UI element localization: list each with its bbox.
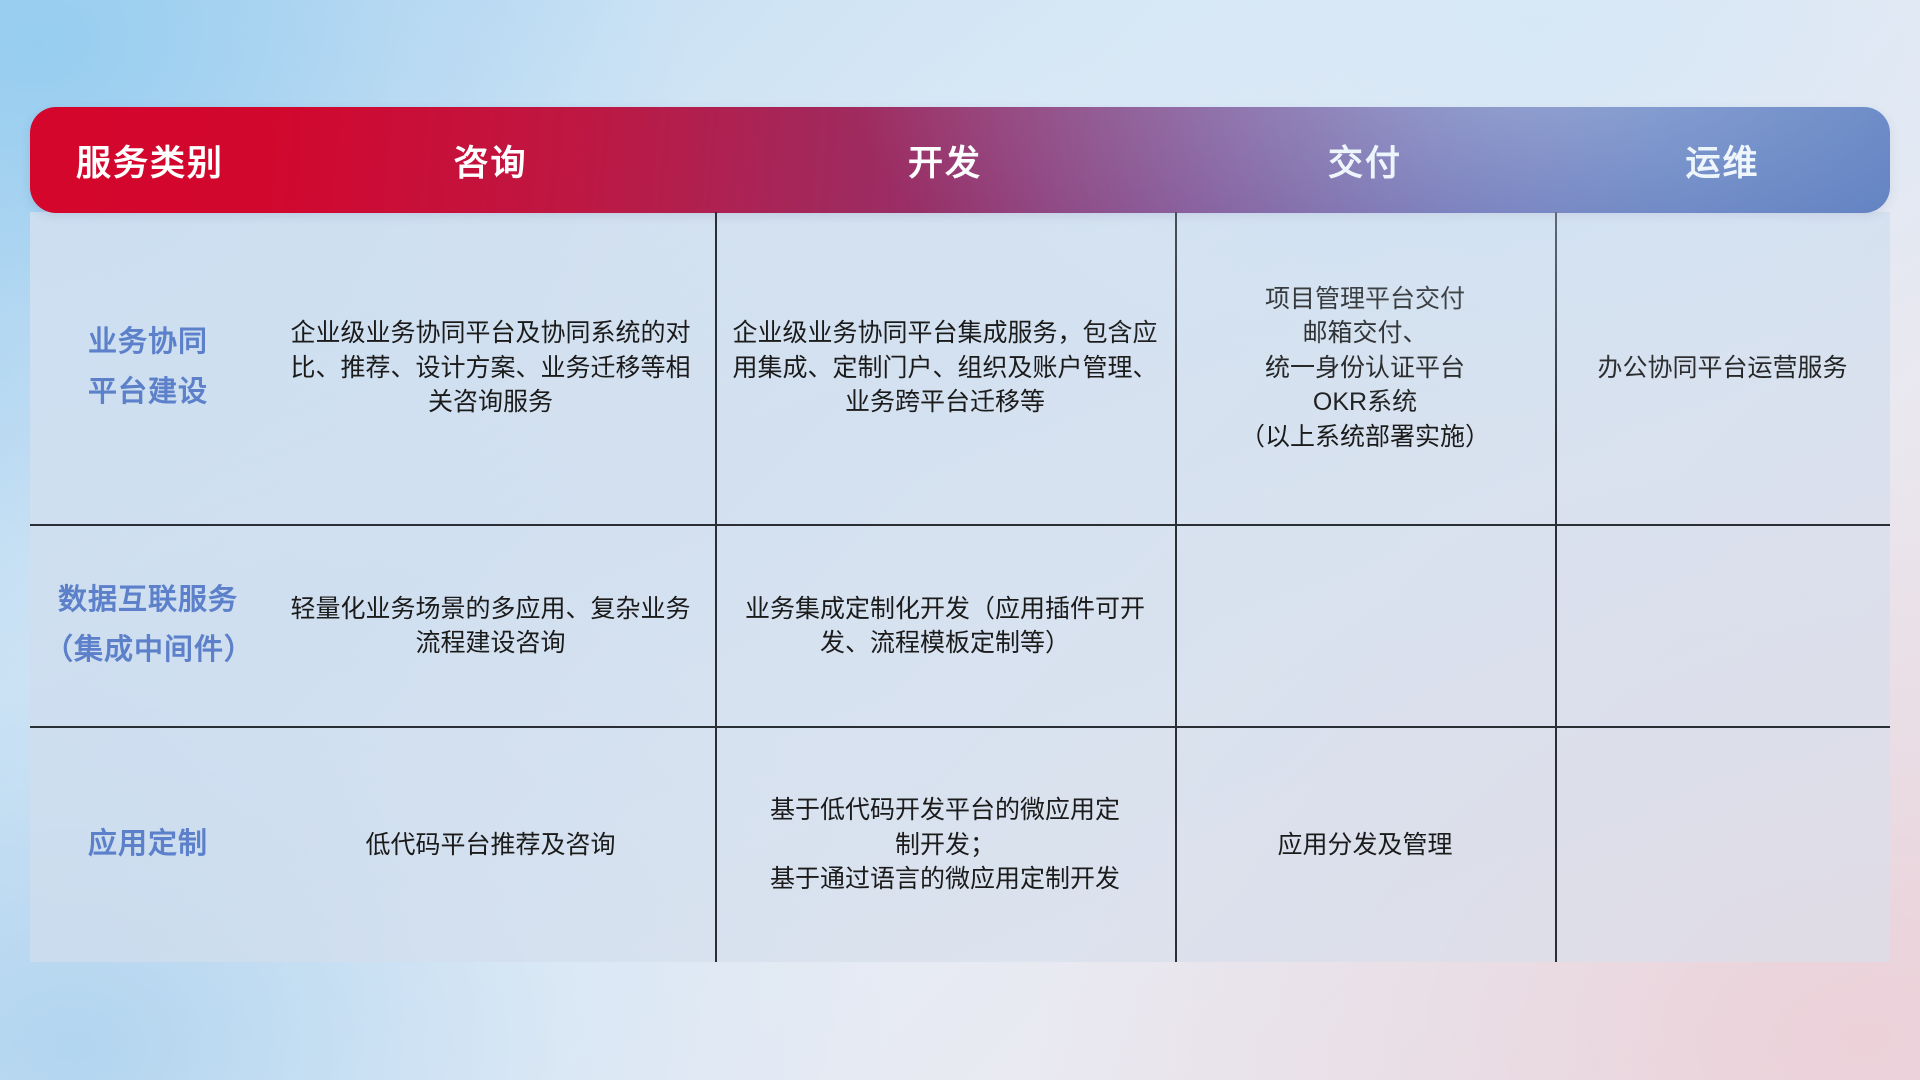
cell-development: 基于低代码开发平台的微应用定 制开发； 基于通过语言的微应用定制开发 <box>715 728 1175 962</box>
row-category-label: 业务协同 平台建设 <box>30 212 266 524</box>
cell-text-line: 基于通过语言的微应用定制开发 <box>729 862 1161 897</box>
table-row: 业务协同 平台建设 企业级业务协同平台及协同系统的对比、推荐、设计方案、业务迁移… <box>30 212 1890 526</box>
table-rows: 业务协同 平台建设 企业级业务协同平台及协同系统的对比、推荐、设计方案、业务迁移… <box>30 212 1890 962</box>
cell-text: 办公协同平台运营服务 <box>1569 351 1876 386</box>
column-header-development: 开发 <box>715 135 1175 186</box>
table-header-row: 服务类别 咨询 开发 交付 运维 <box>30 107 1890 213</box>
column-header-service-category: 服务类别 <box>30 135 266 186</box>
cell-development: 业务集成定制化开发（应用插件可开发、流程模板定制等） <box>715 526 1175 726</box>
cell-operations <box>1555 728 1890 962</box>
cell-text-line: 邮箱交付、 <box>1189 316 1541 351</box>
cell-operations: 办公协同平台运营服务 <box>1555 212 1890 524</box>
column-header-delivery: 交付 <box>1175 135 1555 186</box>
page-background: 服务类别 咨询 开发 交付 运维 业务协同 平台建设 企业级业务协同平台及协同系… <box>0 0 1920 1080</box>
cell-text: 低代码平台推荐及咨询 <box>280 828 701 863</box>
cell-consulting: 企业级业务协同平台及协同系统的对比、推荐、设计方案、业务迁移等相关咨询服务 <box>266 212 715 524</box>
cell-text: 业务集成定制化开发（应用插件可开发、流程模板定制等） <box>729 592 1161 661</box>
category-line: 业务协同 <box>44 318 252 368</box>
column-header-operations: 运维 <box>1555 135 1890 186</box>
cell-text: 轻量化业务场景的多应用、复杂业务流程建设咨询 <box>280 592 701 661</box>
cell-text-line: OKR系统 <box>1189 385 1541 420</box>
cell-text: 企业级业务协同平台及协同系统的对比、推荐、设计方案、业务迁移等相关咨询服务 <box>280 316 701 420</box>
column-divider-development-delivery <box>1175 212 1177 962</box>
service-matrix-table: 服务类别 咨询 开发 交付 运维 业务协同 平台建设 企业级业务协同平台及协同系… <box>30 107 1890 962</box>
cell-delivery <box>1175 526 1555 726</box>
cell-text-line: 统一身份认证平台 <box>1189 351 1541 386</box>
cell-development: 企业级业务协同平台集成服务，包含应用集成、定制门户、组织及账户管理、业务跨平台迁… <box>715 212 1175 524</box>
category-line: （集成中间件） <box>44 626 252 676</box>
cell-operations <box>1555 526 1890 726</box>
cell-delivery: 应用分发及管理 <box>1175 728 1555 962</box>
cell-text: 应用分发及管理 <box>1189 828 1541 863</box>
table-row: 应用定制 低代码平台推荐及咨询 基于低代码开发平台的微应用定 制开发； 基于通过… <box>30 728 1890 962</box>
column-header-consulting: 咨询 <box>266 135 715 186</box>
cell-text-line: 制开发； <box>729 828 1161 863</box>
table-row: 数据互联服务 （集成中间件） 轻量化业务场景的多应用、复杂业务流程建设咨询 业务… <box>30 526 1890 728</box>
cell-text-line: （以上系统部署实施） <box>1189 420 1541 455</box>
category-line: 数据互联服务 <box>44 576 252 626</box>
row-category-label: 应用定制 <box>30 728 266 962</box>
cell-consulting: 低代码平台推荐及咨询 <box>266 728 715 962</box>
cell-text-line: 项目管理平台交付 <box>1189 282 1541 317</box>
cell-delivery: 项目管理平台交付 邮箱交付、 统一身份认证平台 OKR系统 （以上系统部署实施） <box>1175 212 1555 524</box>
category-line: 平台建设 <box>44 368 252 418</box>
cell-consulting: 轻量化业务场景的多应用、复杂业务流程建设咨询 <box>266 526 715 726</box>
column-divider-consulting-development <box>715 212 717 962</box>
row-category-label: 数据互联服务 （集成中间件） <box>30 526 266 726</box>
category-line: 应用定制 <box>44 820 252 870</box>
cell-text: 企业级业务协同平台集成服务，包含应用集成、定制门户、组织及账户管理、业务跨平台迁… <box>729 316 1161 420</box>
column-divider-delivery-operations <box>1555 212 1557 962</box>
cell-text-line: 基于低代码开发平台的微应用定 <box>729 793 1161 828</box>
